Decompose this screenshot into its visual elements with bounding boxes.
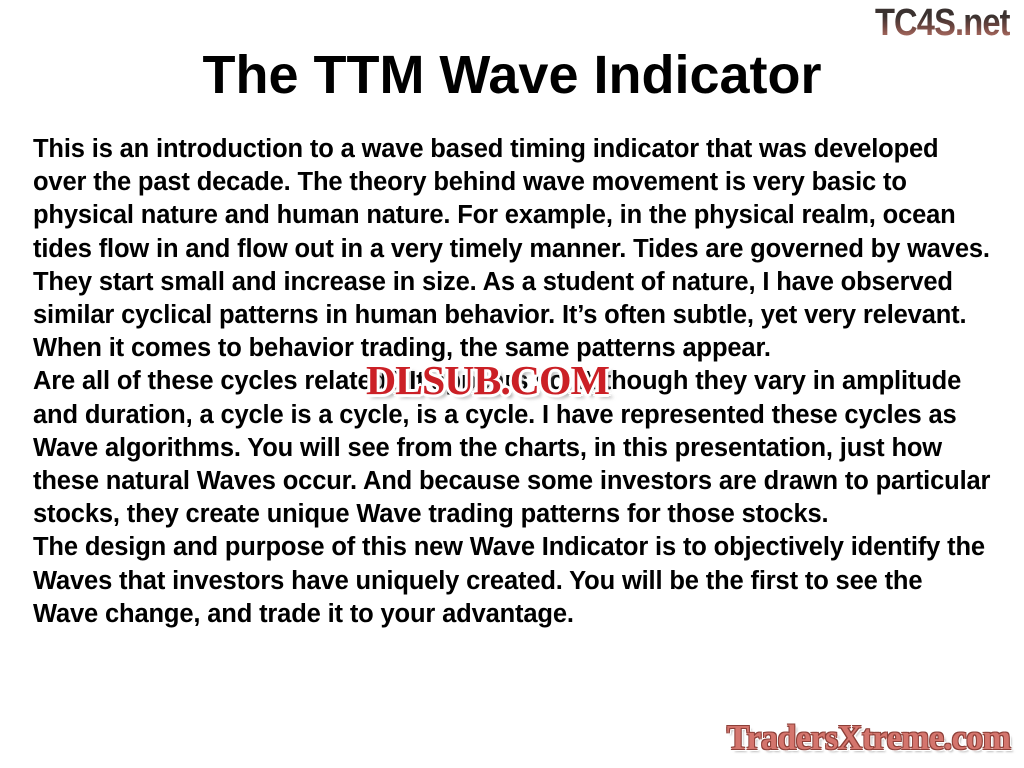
presentation-slide: TC4S.net The TTM Wave Indicator This is … [0,0,1024,768]
body-paragraph: This is an introduction to a wave based … [33,133,993,332]
dlsub-watermark: DLSUB.COM [366,360,609,401]
body-paragraph: The design and purpose of this new Wave … [33,531,993,631]
slide-title: The TTM Wave Indicator [0,44,1024,106]
tradersxtreme-brand-logo: TradersXtreme.com [726,718,1010,758]
tc4s-brand-logo: TC4S.net [875,2,1010,44]
